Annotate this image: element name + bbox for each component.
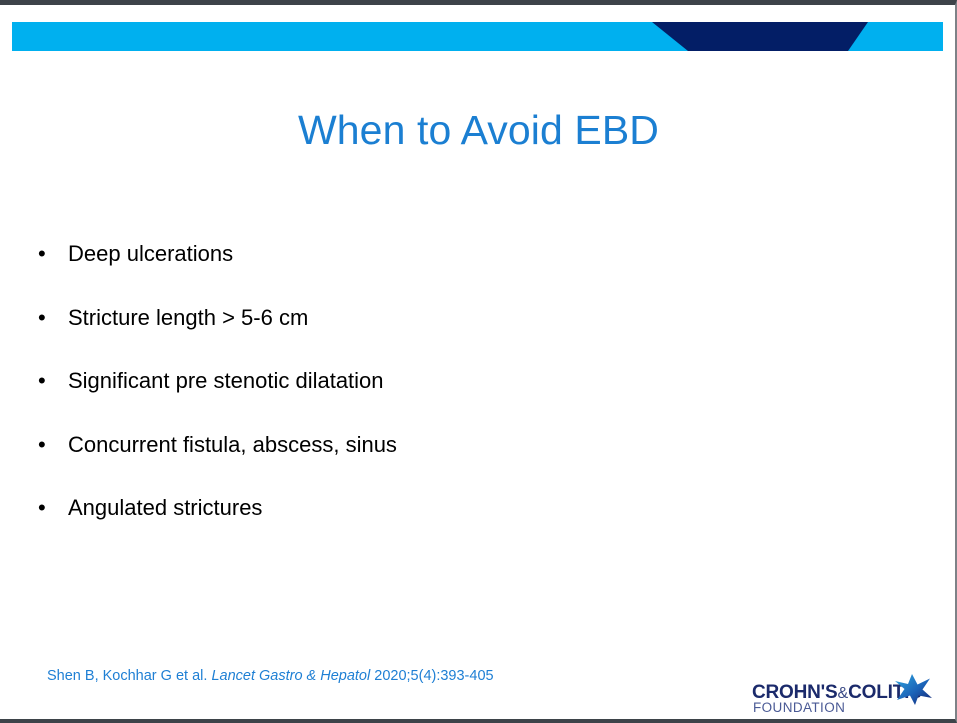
citation: Shen B, Kochhar G et al. Lancet Gastro &…	[47, 667, 494, 686]
list-item: • Stricture length > 5-6 cm	[34, 303, 734, 367]
citation-details: 2020;5(4):393-405	[370, 668, 493, 684]
list-item: • Significant pre stenotic dilatation	[34, 366, 734, 430]
list-item-label: Significant pre stenotic dilatation	[68, 366, 384, 396]
list-item-label: Deep ulcerations	[68, 239, 233, 269]
header-navy-trapezoid	[640, 22, 880, 51]
citation-authors: Shen B, Kochhar G et al.	[47, 668, 211, 684]
list-item: • Deep ulcerations	[34, 239, 734, 303]
bullet-point-icon: •	[34, 366, 68, 396]
page-title: When to Avoid EBD	[0, 106, 957, 154]
four-point-star-icon	[892, 672, 934, 706]
bullet-point-icon: •	[34, 430, 68, 460]
list-item-label: Stricture length > 5-6 cm	[68, 303, 308, 333]
bullet-list: • Deep ulcerations • Stricture length > …	[34, 239, 734, 557]
list-item: • Angulated strictures	[34, 493, 734, 557]
bullet-point-icon: •	[34, 239, 68, 269]
crohns-colitis-foundation-logo: CROHN'S&COLITIS FOUNDATION	[752, 675, 942, 717]
slide-canvas: When to Avoid EBD • Deep ulcerations • S…	[0, 0, 957, 723]
bullet-point-icon: •	[34, 303, 68, 333]
citation-journal: Lancet Gastro & Hepatol	[211, 668, 370, 684]
bullet-point-icon: •	[34, 493, 68, 523]
list-item-label: Angulated strictures	[68, 493, 262, 523]
logo-subtitle: FOUNDATION	[753, 700, 845, 715]
list-item: • Concurrent fistula, abscess, sinus	[34, 430, 734, 494]
list-item-label: Concurrent fistula, abscess, sinus	[68, 430, 397, 460]
